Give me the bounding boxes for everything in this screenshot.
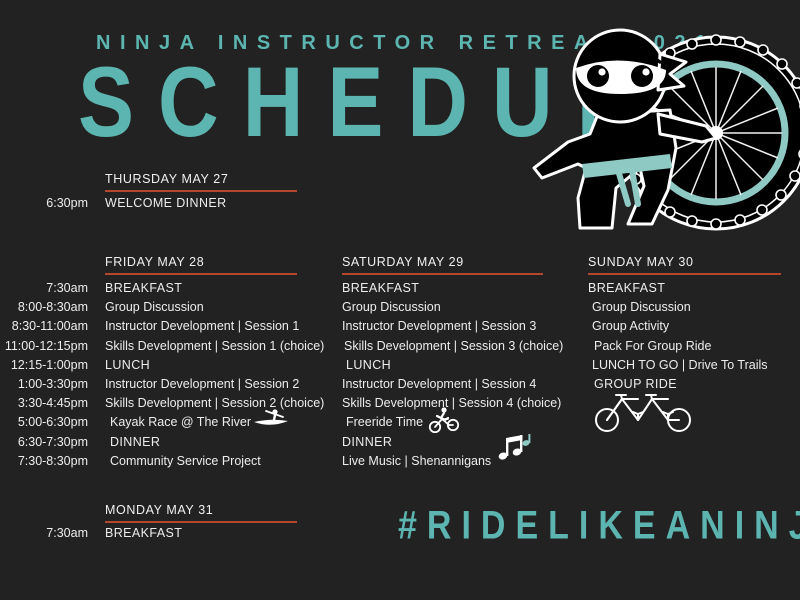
ninja-mascot-svg (520, 18, 800, 250)
activity-cell-saturday: BREAKFAST (342, 281, 419, 295)
activity-cell-saturday: Freeride Time (346, 415, 423, 429)
hashtag-footer: #RIDELIKEANINJA (398, 503, 800, 549)
table-row: 7:30am BREAKFAST BREAKFAST BREAKFAST (0, 281, 800, 300)
activity-cell-friday: Kayak Race @ The River (110, 415, 251, 429)
kayak-icon (253, 408, 289, 428)
day-header-rule (105, 521, 297, 523)
activity-cell-sunday: Pack For Group Ride (594, 339, 711, 353)
time-cell: 11:00-12:15pm (5, 339, 88, 353)
time-cell: 3:30-4:45pm (18, 396, 88, 410)
table-row: 8:00-8:30am Group Discussion Group Discu… (0, 300, 800, 319)
activity-cell-sunday: GROUP RIDE (594, 377, 677, 391)
day-header-saturday: SATURDAY MAY 29 (342, 255, 543, 275)
day-header-sunday-label: SUNDAY MAY 30 (588, 255, 781, 271)
ninja-with-wheel-illustration (520, 18, 800, 250)
time-cell: 7:30am (46, 281, 88, 295)
activity-cell-saturday: Instructor Development | Session 4 (342, 377, 536, 391)
activity-cell-friday: BREAKFAST (105, 281, 182, 295)
day-header-friday: FRIDAY MAY 28 (105, 255, 297, 275)
activity-cell-sunday: LUNCH TO GO | Drive To Trails (592, 358, 768, 372)
day-header-monday-label: MONDAY MAY 31 (105, 503, 297, 519)
table-row: 11:00-12:15pm Skills Development | Sessi… (0, 339, 800, 358)
day-header-rule (588, 273, 781, 275)
time-cell: 8:30-11:00am (12, 319, 88, 333)
activity-cell-saturday: LUNCH (346, 358, 391, 372)
activity-cell-friday: Skills Development | Session 1 (choice) (105, 339, 324, 353)
activity-cell-sunday: Group Activity (592, 319, 669, 333)
day-header-rule (105, 190, 297, 192)
activity-cell-saturday: Live Music | Shenannigans (342, 454, 491, 468)
activity-cell-friday: Instructor Development | Session 2 (105, 377, 299, 391)
table-row: 12:15-1:00pm LUNCH LUNCH LUNCH TO GO | D… (0, 358, 800, 377)
day-header-sunday: SUNDAY MAY 30 (588, 255, 781, 275)
time-cell: 7:30-8:30pm (18, 454, 88, 468)
day-header-friday-label: FRIDAY MAY 28 (105, 255, 297, 271)
day-header-rule (105, 273, 297, 275)
day-header-thursday: THURSDAY MAY 27 (105, 172, 297, 192)
time-cell: 6:30pm (46, 196, 88, 210)
day-header-saturday-label: SATURDAY MAY 29 (342, 255, 543, 271)
activity-cell-friday: Instructor Development | Session 1 (105, 319, 299, 333)
activity-cell-sunday: BREAKFAST (588, 281, 665, 295)
tandem-bike-icon (594, 390, 692, 432)
time-cell: 5:00-6:30pm (18, 415, 88, 429)
time-cell: 6:30-7:30pm (18, 435, 88, 449)
music-notes-icon (498, 434, 532, 462)
activity-cell: BREAKFAST (105, 526, 182, 540)
activity-cell-friday: Skills Development | Session 2 (choice) (105, 396, 324, 410)
activity-cell-friday: DINNER (110, 435, 160, 449)
activity-cell-saturday: DINNER (342, 435, 392, 449)
time-cell: 7:30am (46, 526, 88, 540)
table-row: 7:30-8:30pm Community Service Project Li… (0, 454, 800, 473)
table-row: 7:30am BREAKFAST (0, 526, 400, 545)
activity-cell: WELCOME DINNER (105, 196, 227, 210)
activity-cell-saturday: Instructor Development | Session 3 (342, 319, 536, 333)
time-cell: 8:00-8:30am (18, 300, 88, 314)
schedule-monday: 7:30am BREAKFAST (0, 526, 400, 545)
activity-cell-friday: Group Discussion (105, 300, 204, 314)
day-header-thursday-label: THURSDAY MAY 27 (105, 172, 297, 188)
table-row: 6:30pm WELCOME DINNER (0, 196, 800, 215)
mountain-biker-icon (428, 407, 460, 433)
schedule-poster: NINJA INSTRUCTOR RETREAT 2021 SCHEDULE (0, 0, 800, 600)
activity-cell-sunday: Group Discussion (592, 300, 691, 314)
day-header-rule (342, 273, 543, 275)
activity-cell-saturday: Skills Development | Session 3 (choice) (344, 339, 563, 353)
table-row: 8:30-11:00am Instructor Development | Se… (0, 319, 800, 338)
time-cell: 12:15-1:00pm (11, 358, 88, 372)
activity-cell-friday: LUNCH (105, 358, 150, 372)
activity-cell-saturday: Group Discussion (342, 300, 441, 314)
activity-cell-friday: Community Service Project (110, 454, 261, 468)
table-row: 6:30-7:30pm DINNER DINNER (0, 435, 800, 454)
schedule-thursday: 6:30pm WELCOME DINNER (0, 196, 800, 215)
day-header-monday: MONDAY MAY 31 (105, 503, 297, 523)
time-cell: 1:00-3:30pm (18, 377, 88, 391)
schedule-main-grid: 7:30am BREAKFAST BREAKFAST BREAKFAST 8:0… (0, 281, 800, 473)
